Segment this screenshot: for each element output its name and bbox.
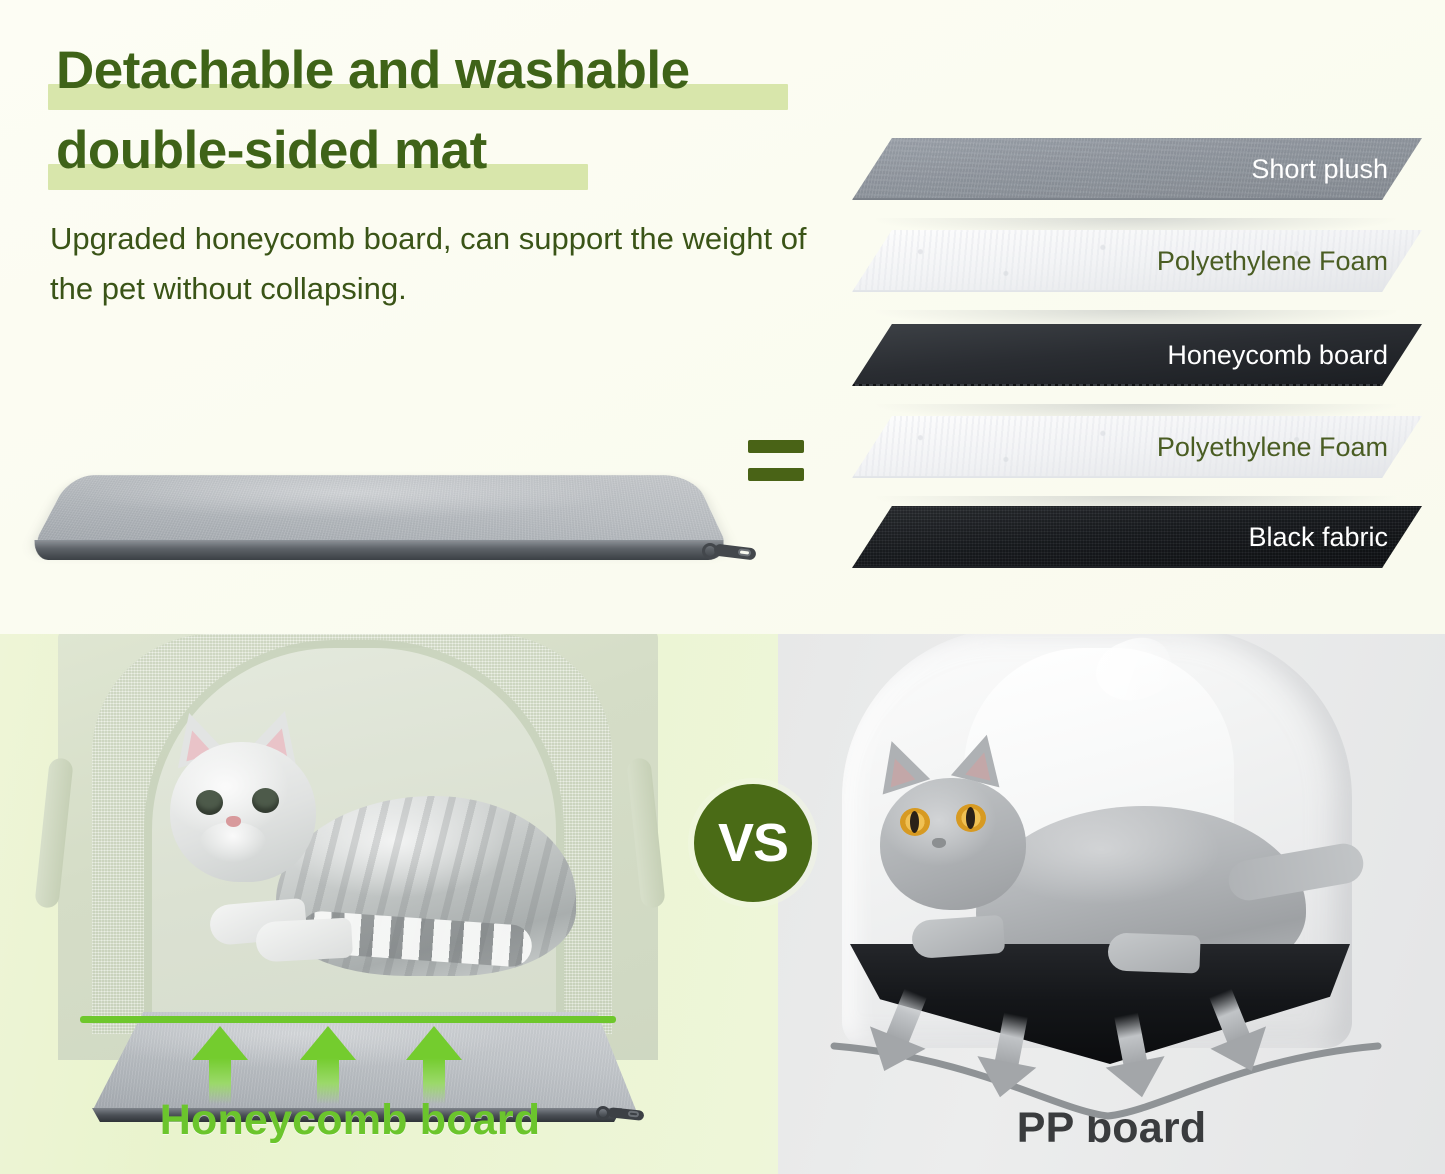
equals-sign-icon bbox=[748, 432, 808, 492]
white-cat-eye-right bbox=[252, 788, 279, 813]
up-arrow-icon-3 bbox=[406, 1026, 462, 1102]
gray-cat-nose bbox=[932, 838, 946, 848]
gray-cat-pupil-left bbox=[910, 811, 919, 833]
up-arrow-head-1 bbox=[192, 1026, 248, 1060]
gray-cat-paw-rear bbox=[1107, 932, 1200, 973]
white-cat-muzzle bbox=[200, 822, 266, 862]
up-arrow-stem-1 bbox=[209, 1058, 231, 1104]
gray-cat-eye-left bbox=[900, 808, 930, 836]
white-cat-image bbox=[144, 706, 574, 1036]
up-arrow-icon-2 bbox=[300, 1026, 356, 1102]
flat-support-line bbox=[80, 1016, 616, 1023]
headline-line-2: double-sided mat bbox=[56, 114, 856, 194]
equals-bar-top bbox=[748, 440, 804, 453]
layer-edge-foam-top bbox=[852, 290, 1418, 305]
zipper-pull-ring bbox=[702, 543, 718, 559]
layer-slab-black-fabric: Black fabric bbox=[852, 506, 1422, 568]
layer-edge-black-fabric bbox=[852, 566, 1418, 581]
comparison-panel-honeycomb: Honeycomb board bbox=[0, 634, 778, 1174]
layer-label-foam-top: Polyethylene Foam bbox=[1157, 246, 1388, 277]
assembled-mat-image bbox=[10, 398, 770, 598]
gray-cat-paw-front bbox=[911, 915, 1005, 959]
page-title: Detachable and washable double-sided mat bbox=[56, 34, 856, 194]
down-arrow-stem-2 bbox=[995, 1012, 1028, 1066]
infographic-page: Detachable and washable double-sided mat… bbox=[0, 0, 1445, 1174]
comparison-section: Honeycomb board bbox=[0, 634, 1445, 1174]
white-cat-eye-left bbox=[196, 790, 223, 815]
honeycomb-corrugation-edge bbox=[852, 384, 1418, 399]
down-arrow-stem-3 bbox=[1114, 1012, 1147, 1066]
layer-label-short-plush: Short plush bbox=[1251, 154, 1388, 185]
subtitle-text: Upgraded honeycomb board, can support th… bbox=[50, 214, 810, 314]
up-arrow-icon-1 bbox=[192, 1026, 248, 1102]
top-section: Detachable and washable double-sided mat… bbox=[0, 0, 1445, 634]
layer-slab-honeycomb-board: Honeycomb board bbox=[852, 324, 1422, 386]
gray-cat-pupil-right bbox=[966, 807, 975, 829]
headline-text-2: double-sided mat bbox=[56, 114, 856, 188]
layer-slab-short-plush: Short plush bbox=[852, 138, 1422, 200]
layer-stack-diagram: Short plush Polyethylene Foam Honeycomb … bbox=[852, 138, 1442, 578]
white-cat-nose bbox=[226, 816, 241, 827]
headline-line-1: Detachable and washable bbox=[56, 34, 856, 114]
up-arrow-stem-3 bbox=[423, 1058, 445, 1104]
gray-cat-head bbox=[880, 778, 1026, 910]
white-cat-paw-rear bbox=[255, 918, 353, 963]
zipper-tab-hole bbox=[738, 548, 752, 557]
vs-badge-label: VS bbox=[718, 812, 788, 874]
comparison-panel-pp: PP board bbox=[778, 634, 1445, 1174]
layer-label-black-fabric: Black fabric bbox=[1248, 522, 1388, 553]
headline-text-1: Detachable and washable bbox=[56, 34, 856, 108]
vs-badge: VS bbox=[694, 784, 812, 902]
gray-cat-eye-right bbox=[956, 804, 986, 832]
layer-label-foam-bottom: Polyethylene Foam bbox=[1157, 432, 1388, 463]
up-arrow-head-2 bbox=[300, 1026, 356, 1060]
up-arrow-stem-2 bbox=[317, 1058, 339, 1104]
up-arrow-head-3 bbox=[406, 1026, 462, 1060]
layer-label-honeycomb-board: Honeycomb board bbox=[1167, 340, 1388, 371]
honeycomb-board-label: Honeycomb board bbox=[0, 1096, 700, 1145]
mat-side-edge bbox=[33, 540, 724, 560]
layer-slab-foam-bottom: Polyethylene Foam bbox=[852, 416, 1422, 478]
layer-slab-foam-top: Polyethylene Foam bbox=[852, 230, 1422, 292]
layer-edge-short-plush bbox=[852, 198, 1418, 213]
zipper-icon bbox=[700, 540, 770, 570]
equals-bar-bottom bbox=[748, 468, 804, 481]
layer-edge-foam-bottom bbox=[852, 476, 1418, 491]
